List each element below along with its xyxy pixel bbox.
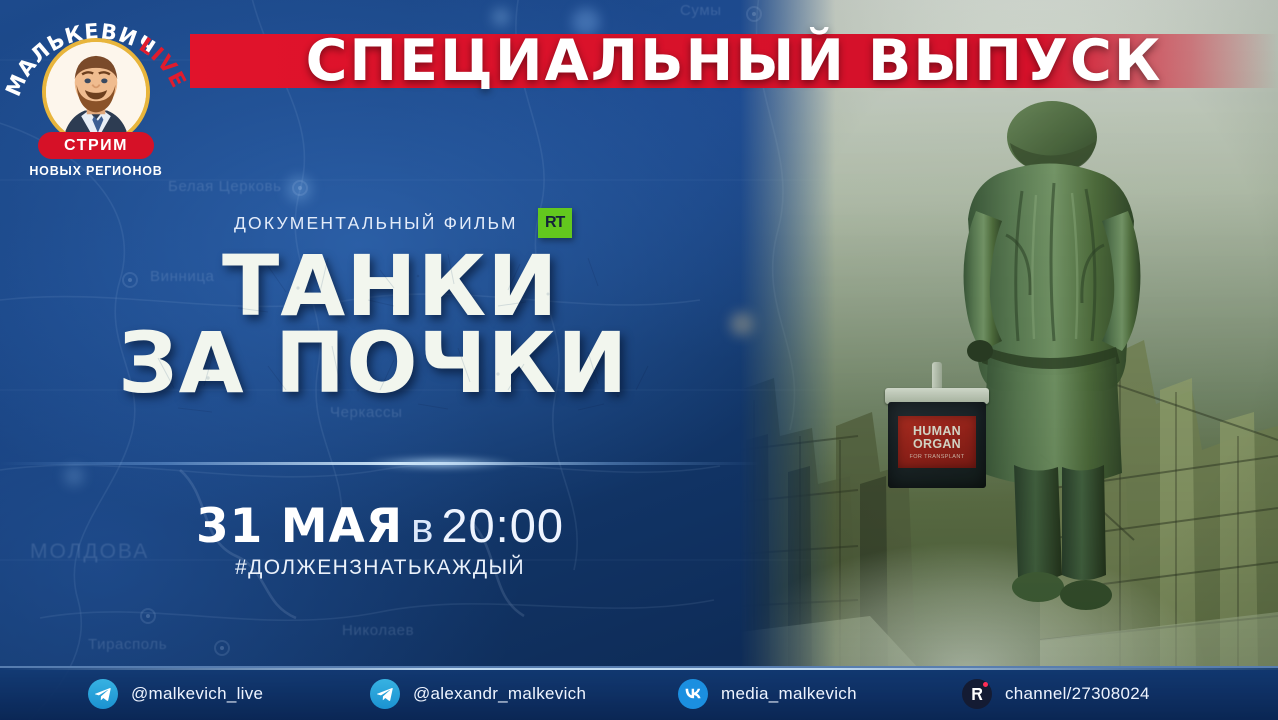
documentary-still: HUMAN ORGAN FOR TRANSPLANT [740, 0, 1278, 670]
social-handle: @alexandr_malkevich [413, 684, 586, 704]
social-handle: media_malkevich [721, 684, 857, 704]
photo-vignette [740, 0, 1278, 670]
map-pin-icon [292, 180, 308, 196]
air-time: 20:00 [441, 499, 564, 552]
vk-icon [678, 679, 708, 709]
telegram-icon [370, 679, 400, 709]
stream-subtitle: НОВЫХ РЕГИОНОВ [12, 164, 180, 178]
social-bar: @malkevich_live @alexandr_malkevich medi… [0, 666, 1278, 720]
rt-logo-text: RT [545, 214, 564, 232]
documentary-row: ДОКУМЕНТАЛЬНЫЙ ФИЛЬМ RT [234, 208, 572, 238]
social-link-rutube[interactable]: channel/27308024 [962, 679, 1150, 709]
promo-poster: Сумы Белая Церковь Винница МОЛДОВА Тирас… [0, 0, 1278, 720]
map-pin-icon [214, 640, 230, 656]
rutube-notification-dot [983, 682, 988, 687]
social-handle: channel/27308024 [1005, 684, 1150, 704]
air-date: 31 МАЯ [196, 499, 403, 554]
social-handle: @malkevich_live [131, 684, 263, 704]
social-link-telegram-1[interactable]: @malkevich_live [88, 679, 263, 709]
air-preposition: в [411, 504, 433, 551]
documentary-label: ДОКУМЕНТАЛЬНЫЙ ФИЛЬМ [234, 213, 518, 234]
social-link-telegram-2[interactable]: @alexandr_malkevich [370, 679, 586, 709]
section-divider [0, 462, 760, 465]
telegram-icon [88, 679, 118, 709]
rt-logo-icon: RT [538, 208, 572, 238]
channel-logo[interactable]: МАЛЬКЕВИЧ LIVE [12, 6, 180, 186]
schedule-row: 31 МАЯв20:00 [0, 498, 760, 554]
title-line-2: ЗА ПОЧКИ [118, 325, 738, 402]
social-bar-sheen [0, 668, 1278, 670]
map-pin-icon [140, 608, 156, 624]
avatar [42, 38, 150, 146]
social-link-vk[interactable]: media_malkevich [678, 679, 857, 709]
stream-badge: СТРИМ [38, 132, 154, 159]
page-title: ТАНКИ ЗА ПОЧКИ [118, 248, 738, 403]
rutube-icon [962, 679, 992, 709]
special-edition-banner-text: СПЕЦИАЛЬНЫЙ ВЫПУСК [190, 24, 1278, 98]
hashtag: #ДОЛЖЕНЗНАТЬКАЖДЫЙ [0, 556, 760, 580]
bokeh-light [64, 466, 84, 486]
